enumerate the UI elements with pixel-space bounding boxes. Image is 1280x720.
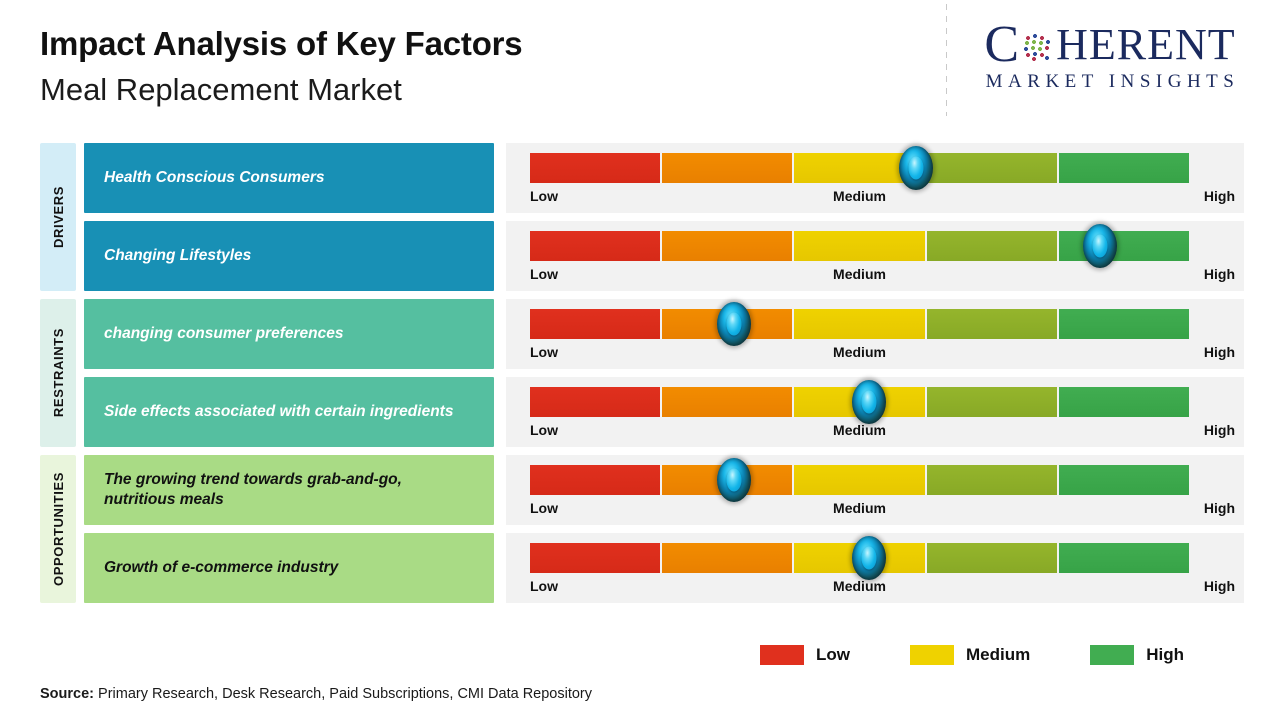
gauge-segment-high <box>1059 153 1189 183</box>
gauge-bar <box>530 231 1189 261</box>
legend-label-medium: Medium <box>966 645 1030 665</box>
group-opportunities: OPPORTUNITIES The growing trend towards … <box>40 455 1244 603</box>
impact-gauge: Low Medium High <box>506 143 1244 213</box>
gauge-segment-high <box>1059 543 1189 573</box>
legend-swatch-medium <box>910 645 954 665</box>
factor-row: Changing Lifestyles Low Medium <box>84 221 1244 291</box>
group-restraints: RESTRAINTS changing consumer preferences <box>40 299 1244 447</box>
gauge-segment-medhigh <box>927 543 1057 573</box>
category-label-text: OPPORTUNITIES <box>51 472 66 586</box>
gauge-segment-low <box>530 231 660 261</box>
group-rows-drivers: Health Conscious Consumers Low M <box>84 143 1244 291</box>
factor-label: The growing trend towards grab-and-go, n… <box>84 455 494 525</box>
scale-label-high: High <box>1204 266 1235 282</box>
header-divider <box>946 4 947 116</box>
gauge-segment-high <box>1059 387 1189 417</box>
group-rows-opportunities: The growing trend towards grab-and-go, n… <box>84 455 1244 603</box>
logo-tagline: MARKET INSIGHTS <box>960 71 1260 93</box>
gauge-segment-lowmed <box>662 153 792 183</box>
impact-marker[interactable] <box>852 380 886 424</box>
gauge-segment-low <box>530 543 660 573</box>
gauge-scale: Low Medium High <box>530 264 1189 290</box>
impact-gauge: Low Medium High <box>506 455 1244 525</box>
scale-label-low: Low <box>530 266 558 282</box>
header: Impact Analysis of Key Factors Meal Repl… <box>40 26 522 108</box>
gauge-segment-medhigh <box>927 387 1057 417</box>
gauge-segment-low <box>530 465 660 495</box>
gauge-segment-high <box>1059 231 1189 261</box>
gauge-bar <box>530 465 1189 495</box>
factor-row: changing consumer preferences Low <box>84 299 1244 369</box>
factor-label: Side effects associated with certain ing… <box>84 377 494 447</box>
globe-icon <box>1021 31 1055 65</box>
legend-label-low: Low <box>816 645 850 665</box>
scale-label-medium: Medium <box>833 188 886 204</box>
gauge-scale: Low Medium High <box>530 420 1189 446</box>
gauge-segment-medhigh <box>927 153 1057 183</box>
gauge-scale: Low Medium High <box>530 576 1189 602</box>
gauge-segment-low <box>530 309 660 339</box>
category-label-drivers: DRIVERS <box>40 143 76 291</box>
scale-label-high: High <box>1204 344 1235 360</box>
logo-letter-c: C <box>984 22 1020 69</box>
factor-row: Growth of e-commerce industry Low <box>84 533 1244 603</box>
source-footer: Source: Primary Research, Desk Research,… <box>40 686 592 702</box>
impact-marker[interactable] <box>899 146 933 190</box>
impact-gauge: Low Medium High <box>506 533 1244 603</box>
impact-marker[interactable] <box>852 536 886 580</box>
gauge-bar <box>530 153 1189 183</box>
scale-label-low: Low <box>530 344 558 360</box>
scale-label-medium: Medium <box>833 266 886 282</box>
legend-label-high: High <box>1146 645 1184 665</box>
gauge-segment-medium <box>794 231 924 261</box>
gauge-segment-medhigh <box>927 309 1057 339</box>
category-label-restraints: RESTRAINTS <box>40 299 76 447</box>
gauge-segment-medhigh <box>927 231 1057 261</box>
gauge-bar <box>530 543 1189 573</box>
factor-row: The growing trend towards grab-and-go, n… <box>84 455 1244 525</box>
factor-label: Growth of e-commerce industry <box>84 533 494 603</box>
gauge-scale: Low Medium High <box>530 498 1189 524</box>
scale-label-high: High <box>1204 578 1235 594</box>
legend-item-high: High <box>1090 645 1184 665</box>
scale-label-low: Low <box>530 578 558 594</box>
legend-swatch-low <box>760 645 804 665</box>
source-text: Primary Research, Desk Research, Paid Su… <box>94 686 592 702</box>
factor-label: Health Conscious Consumers <box>84 143 494 213</box>
scale-label-high: High <box>1204 422 1235 438</box>
legend-item-low: Low <box>760 645 850 665</box>
group-rows-restraints: changing consumer preferences Low <box>84 299 1244 447</box>
gauge-scale: Low Medium High <box>530 186 1189 212</box>
impact-marker[interactable] <box>717 458 751 502</box>
factor-label: Changing Lifestyles <box>84 221 494 291</box>
scale-label-medium: Medium <box>833 578 886 594</box>
scale-label-high: High <box>1204 500 1235 516</box>
page-title: Impact Analysis of Key Factors <box>40 26 522 63</box>
gauge-bar <box>530 387 1189 417</box>
scale-label-high: High <box>1204 188 1235 204</box>
gauge-scale: Low Medium High <box>530 342 1189 368</box>
page-subtitle: Meal Replacement Market <box>40 71 522 108</box>
scale-label-low: Low <box>530 422 558 438</box>
factor-row: Health Conscious Consumers Low M <box>84 143 1244 213</box>
gauge-segment-medium <box>794 309 924 339</box>
company-logo: C HERENT MARKET INSIGHTS <box>960 22 1260 93</box>
gauge-segment-lowmed <box>662 231 792 261</box>
scale-label-low: Low <box>530 188 558 204</box>
impact-matrix: DRIVERS Health Conscious Consumers <box>40 143 1244 603</box>
scale-label-medium: Medium <box>833 500 886 516</box>
gauge-segment-medhigh <box>927 465 1057 495</box>
logo-wordmark: C HERENT <box>960 22 1260 69</box>
source-label: Source: <box>40 686 94 702</box>
legend-item-medium: Medium <box>910 645 1030 665</box>
category-label-opportunities: OPPORTUNITIES <box>40 455 76 603</box>
gauge-bar <box>530 309 1189 339</box>
scale-label-low: Low <box>530 500 558 516</box>
legend: Low Medium High <box>760 645 1184 665</box>
scale-label-medium: Medium <box>833 422 886 438</box>
category-label-text: DRIVERS <box>51 186 66 248</box>
gauge-segment-low <box>530 387 660 417</box>
scale-label-medium: Medium <box>833 344 886 360</box>
legend-swatch-high <box>1090 645 1134 665</box>
factor-label: changing consumer preferences <box>84 299 494 369</box>
impact-gauge: Low Medium High <box>506 221 1244 291</box>
group-drivers: DRIVERS Health Conscious Consumers <box>40 143 1244 291</box>
impact-gauge: Low Medium High <box>506 377 1244 447</box>
impact-gauge: Low Medium High <box>506 299 1244 369</box>
slide-root: Impact Analysis of Key Factors Meal Repl… <box>0 0 1280 720</box>
logo-word-rest: HERENT <box>1056 23 1236 67</box>
impact-marker[interactable] <box>717 302 751 346</box>
gauge-segment-high <box>1059 309 1189 339</box>
gauge-segment-medium <box>794 465 924 495</box>
gauge-segment-lowmed <box>662 543 792 573</box>
gauge-segment-low <box>530 153 660 183</box>
factor-row: Side effects associated with certain ing… <box>84 377 1244 447</box>
category-label-text: RESTRAINTS <box>51 328 66 417</box>
gauge-segment-lowmed <box>662 387 792 417</box>
gauge-segment-high <box>1059 465 1189 495</box>
impact-marker[interactable] <box>1083 224 1117 268</box>
